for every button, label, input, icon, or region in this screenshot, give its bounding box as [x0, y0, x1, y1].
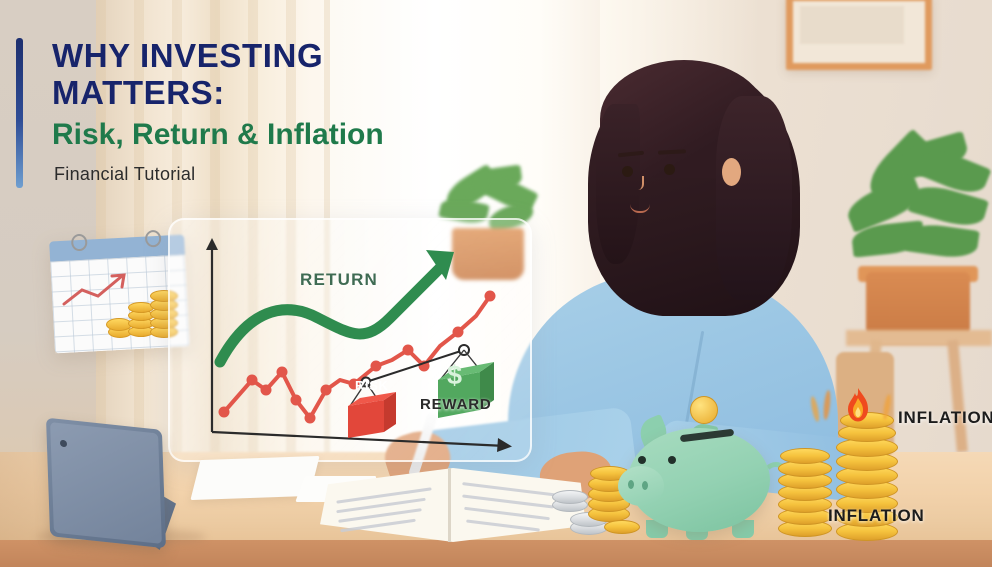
- nose: [633, 176, 644, 190]
- open-notebook: [320, 468, 586, 542]
- piggy-nostril: [642, 481, 648, 490]
- gold-coin: [604, 520, 640, 534]
- risk-label: RISK: [355, 378, 388, 393]
- piggy-eye: [668, 456, 676, 464]
- x-axis-arrow: [497, 438, 512, 452]
- plant-stand-top: [846, 330, 992, 346]
- flame-icon: [846, 388, 870, 422]
- piggy-eye: [638, 456, 646, 464]
- y-axis-arrow: [206, 238, 218, 250]
- falling-coin: [690, 396, 718, 424]
- ear: [722, 158, 741, 186]
- accent-bar: [16, 38, 23, 188]
- reward-label: REWARD: [420, 396, 491, 413]
- inflation-label-top: INFLATION: [898, 408, 992, 428]
- notebook-spine: [448, 468, 451, 542]
- eye-left: [622, 166, 633, 177]
- piggy-snout: [618, 466, 664, 506]
- page-subtitle: Risk, Return & Inflation: [52, 118, 572, 152]
- tutorial-slide: INFLATION INFLATION: [0, 0, 992, 567]
- gold-coin: [780, 448, 830, 464]
- title-block: WHY INVESTING MATTERS: Risk, Return & In…: [52, 38, 572, 185]
- hair-right-strand: [716, 96, 792, 300]
- calendar-trend-arrow: [60, 270, 134, 310]
- camera-icon: [60, 440, 67, 448]
- investment-chart: [168, 214, 538, 464]
- inflation-label-bottom: INFLATION: [828, 506, 925, 526]
- piggy-nostril: [628, 480, 634, 489]
- title-line-1: WHY INVESTING: [52, 37, 323, 74]
- dollar-sign-icon: $: [447, 360, 462, 391]
- eye-right: [664, 164, 675, 175]
- return-label: RETURN: [300, 270, 378, 290]
- page-title: WHY INVESTING MATTERS:: [52, 38, 572, 112]
- title-line-2: MATTERS:: [52, 74, 225, 111]
- tablet-bezel: [50, 422, 162, 544]
- picture-mat: [800, 6, 904, 44]
- silver-coin: [552, 490, 588, 504]
- page-kicker: Financial Tutorial: [54, 164, 572, 185]
